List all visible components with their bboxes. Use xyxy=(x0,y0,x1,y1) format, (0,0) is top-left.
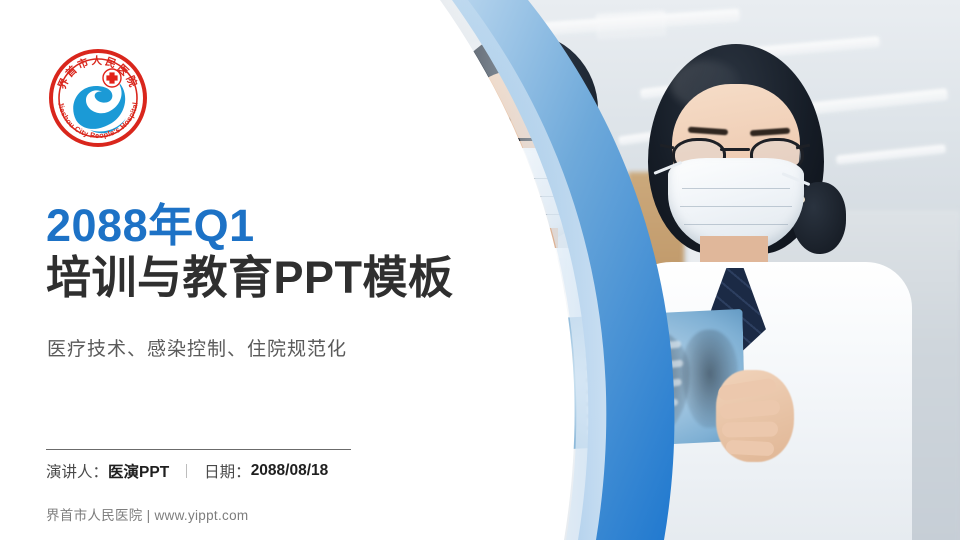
xray-image xyxy=(443,309,746,455)
page-subtitle: 医疗技术、感染控制、住院规范化 xyxy=(47,334,347,361)
title-divider-rule xyxy=(46,449,351,450)
doctor-finger xyxy=(722,422,778,438)
meta-separator xyxy=(186,464,187,478)
chest-xray-film xyxy=(443,309,746,455)
title-line-quarter: 2088年Q1 xyxy=(46,202,506,251)
date-label: 日期： xyxy=(204,460,251,482)
speaker-label: 演讲人： xyxy=(46,460,108,482)
date-value: 2088/08/18 xyxy=(251,462,329,480)
ceiling-panel xyxy=(595,10,666,40)
page-title: 2088年Q1 培训与教育PPT模板 xyxy=(46,202,506,303)
mask-fold xyxy=(684,224,788,225)
mask-fold xyxy=(680,206,792,207)
presenter-meta: 演讲人： 医演PPT 日期： 2088/08/18 xyxy=(46,460,328,482)
doctor-finger xyxy=(726,440,775,456)
mask-fold xyxy=(682,188,790,189)
glasses-bridge xyxy=(720,148,750,151)
speaker-name: 医演PPT xyxy=(108,460,169,482)
hospital-logo: 界首市人民医院 Jieshou City People's Hospital xyxy=(46,46,150,150)
mask-fold xyxy=(466,178,578,179)
title-panel: 界首市人民医院 Jieshou City People's Hospital 2… xyxy=(0,0,430,540)
doctor-hand xyxy=(532,336,572,382)
footer-credit: 界首市人民医院 | www.yippt.com xyxy=(46,504,248,524)
presentation-slide: 界首市人民医院 Jieshou City People's Hospital 2… xyxy=(0,0,960,540)
mask-fold xyxy=(464,196,580,197)
title-line-main: 培训与教育PPT模板 xyxy=(46,253,506,303)
glasses-bridge xyxy=(508,138,538,141)
